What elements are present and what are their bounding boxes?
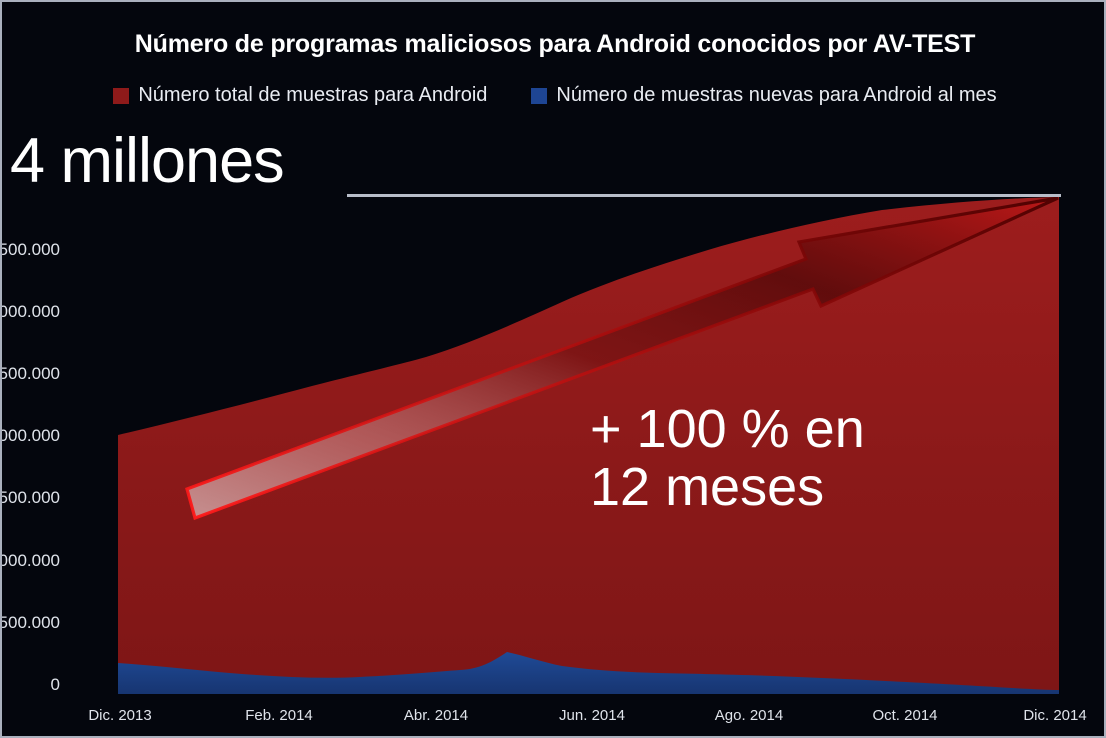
x-axis-tick-oct-2014: Oct. 2014 bbox=[872, 707, 937, 724]
y-axis-tick-2500000: 2.500.000 bbox=[0, 364, 60, 384]
annotation-four-millions: 4 millones bbox=[10, 130, 284, 193]
annotation-growth-line2: 12 meses bbox=[590, 458, 865, 516]
x-axis-tick-abr-2014: Abr. 2014 bbox=[404, 707, 468, 724]
x-axis-tick-dic-2013: Dic. 2013 bbox=[88, 707, 151, 724]
legend-item-new-samples: Número de muestras nuevas para Android a… bbox=[531, 84, 996, 107]
x-axis-tick-ago-2014: Ago. 2014 bbox=[715, 707, 783, 724]
chart-legend: Número total de muestras para Android Nú… bbox=[2, 84, 1106, 107]
area-chart-plot bbox=[2, 2, 1106, 738]
legend-label-new-samples: Número de muestras nuevas para Android a… bbox=[556, 84, 996, 107]
square-swatch-icon bbox=[531, 88, 547, 104]
series-total-samples-area bbox=[118, 197, 1059, 694]
y-axis-tick-2000000: 2.000.000 bbox=[0, 426, 60, 446]
y-axis-tick-3500000: 3.500.000 bbox=[0, 240, 60, 260]
annotation-growth-callout: + 100 % en 12 meses bbox=[590, 400, 865, 517]
y-axis-tick-0: 0 bbox=[0, 675, 60, 695]
legend-item-total-samples: Número total de muestras para Android bbox=[113, 84, 487, 107]
page-title: Número de programas maliciosos para Andr… bbox=[2, 30, 1106, 59]
y-axis-tick-3000000: 3.000.000 bbox=[0, 302, 60, 322]
annotation-growth-line1: + 100 % en bbox=[590, 400, 865, 458]
chart-frame: Número de programas maliciosos para Andr… bbox=[0, 0, 1106, 738]
legend-label-total-samples: Número total de muestras para Android bbox=[138, 84, 487, 107]
x-axis-tick-feb-2014: Feb. 2014 bbox=[245, 707, 313, 724]
y-axis-tick-1500000: 1.500.000 bbox=[0, 488, 60, 508]
y-axis-tick-500000: 500.000 bbox=[0, 613, 60, 633]
x-axis-tick-jun-2014: Jun. 2014 bbox=[559, 707, 625, 724]
x-axis-tick-dic-2014: Dic. 2014 bbox=[1023, 707, 1086, 724]
y-axis-tick-1000000: 1.000.000 bbox=[0, 551, 60, 571]
square-swatch-icon bbox=[113, 88, 129, 104]
four-millions-reference-line bbox=[347, 194, 1061, 197]
